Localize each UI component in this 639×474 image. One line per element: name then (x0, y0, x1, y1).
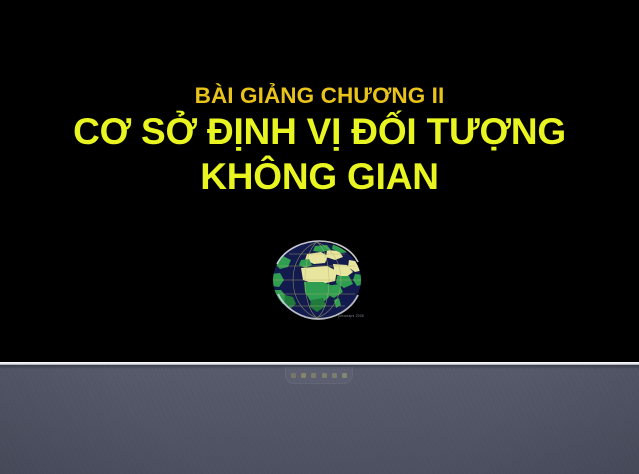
slide-menu-button[interactable] (311, 373, 316, 378)
previous-slide-button[interactable] (291, 373, 296, 378)
slideshow-screen: BÀI GIẢNG CHƯƠNG II CƠ SỞ ĐỊNH VỊ ĐỐI TƯ… (0, 0, 639, 474)
zoom-button[interactable] (322, 373, 327, 378)
globe-credit-watermark: johomaps 2005 (338, 314, 364, 318)
slideshow-control-bar[interactable] (285, 367, 353, 384)
next-slide-button[interactable] (342, 373, 347, 378)
pen-tool-button[interactable] (301, 373, 306, 378)
slide-title-line-1: CƠ SỞ ĐỊNH VỊ ĐỐI TƯỢNG (0, 109, 639, 154)
options-button[interactable] (332, 373, 337, 378)
slide-kicker-text: BÀI GIẢNG CHƯƠNG II (0, 82, 639, 109)
globe-svg (271, 240, 365, 322)
slide-title-line-2: KHÔNG GIAN (0, 154, 639, 199)
globe-image: johomaps 2005 (271, 240, 365, 322)
slide-title-block: BÀI GIẢNG CHƯƠNG II CƠ SỞ ĐỊNH VỊ ĐỐI TƯ… (0, 82, 639, 199)
presentation-slide[interactable]: BÀI GIẢNG CHƯƠNG II CƠ SỞ ĐỊNH VỊ ĐỐI TƯ… (0, 0, 639, 362)
